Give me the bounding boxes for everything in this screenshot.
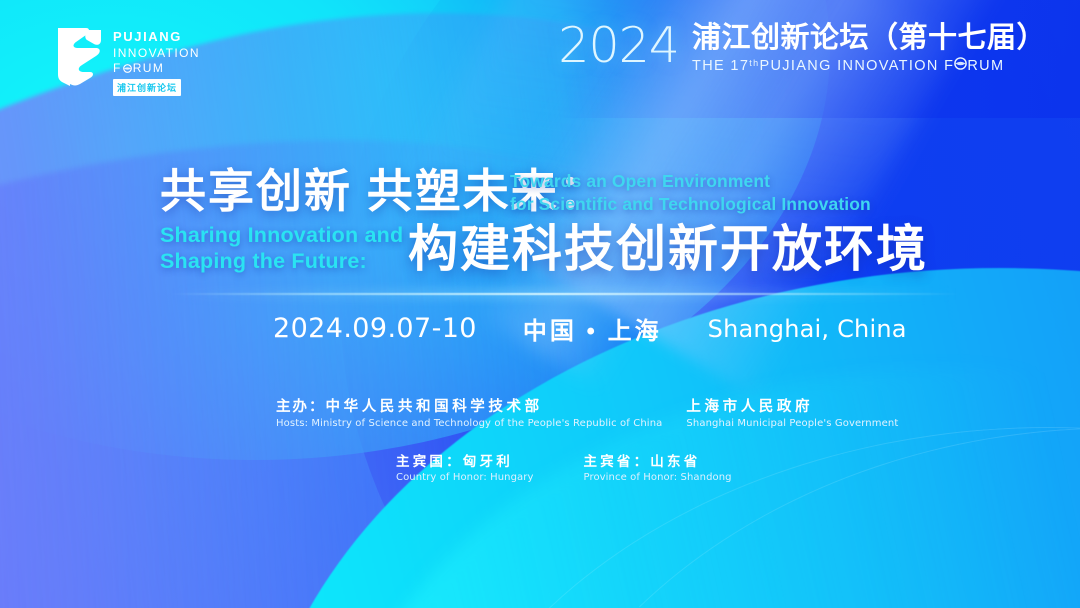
- poster-canvas: PUJIANG INNOVATION F RUM 浦江创新论坛 2024 浦江创…: [0, 0, 1080, 608]
- headline-cn-line-2: 构建科技创新开放环境: [408, 224, 928, 274]
- guest-item: 主宾国：匈牙利 Country of Honor: Hungary: [396, 450, 534, 483]
- guest-cn: 主宾国：匈牙利: [396, 450, 534, 470]
- host-en: Shanghai Municipal People's Government: [686, 418, 898, 429]
- headline-en-right-l2: for Scientific and Technological Innovat…: [510, 193, 871, 216]
- logo-forum-f: F: [113, 61, 122, 76]
- headline-en-left-l1: Sharing Innovation and: [160, 222, 403, 248]
- guest-en: Province of Honor: Shandong: [584, 472, 732, 483]
- host-cn-label: 主办：: [276, 399, 326, 415]
- event-location-en: Shanghai, China: [708, 315, 907, 343]
- headline-en-left: Sharing Innovation and Shaping the Futur…: [160, 222, 403, 274]
- host-cn: 主办：中华人民共和国科学技术部: [276, 398, 662, 416]
- pujiang-logo-mark-icon: [56, 26, 103, 88]
- headline-en-right-l1: Towards an Open Environment: [510, 170, 871, 193]
- event-date: 2024.09.07-10: [273, 313, 477, 344]
- logo-chinese-badge: 浦江创新论坛: [113, 79, 181, 96]
- forum-title-en-pre: THE 17: [692, 58, 749, 74]
- forum-year: 2024: [558, 22, 679, 70]
- host-item: 主办：中华人民共和国科学技术部 Hosts: Ministry of Scien…: [276, 398, 662, 429]
- forum-title-en: THE 17 th PUJIANG INNOVATION F RUM: [692, 57, 1046, 74]
- pujiang-forum-logo[interactable]: PUJIANG INNOVATION F RUM 浦江创新论坛: [56, 26, 200, 96]
- forum-title-text: 浦江创新论坛（第十七届） THE 17 th PUJIANG INNOVATIO…: [692, 22, 1046, 74]
- guests-of-honor-row: 主宾国：匈牙利 Country of Honor: Hungary 主宾省：山东…: [396, 450, 732, 483]
- globe-o-icon-header: [954, 57, 967, 70]
- host-item: 上海市人民政府 Shanghai Municipal People's Gove…: [686, 398, 898, 429]
- logo-wordmark: PUJIANG INNOVATION F RUM 浦江创新论坛: [113, 26, 200, 96]
- hosts-row: 主办：中华人民共和国科学技术部 Hosts: Ministry of Scien…: [276, 398, 898, 429]
- forum-title-en-end: RUM: [967, 58, 1004, 74]
- guest-cn: 主宾省：山东省: [584, 450, 732, 470]
- forum-title-cn: 浦江创新论坛（第十七届）: [692, 23, 1046, 54]
- guest-item: 主宾省：山东省 Province of Honor: Shandong: [584, 450, 732, 483]
- forum-title-block: 2024 浦江创新论坛（第十七届） THE 17 th PUJIANG INNO…: [558, 22, 1046, 74]
- forum-title-en-sup: th: [749, 58, 759, 68]
- logo-line-innovation: INNOVATION: [113, 46, 200, 61]
- headline-en-left-l2: Shaping the Future:: [160, 248, 403, 274]
- globe-o-icon: [123, 64, 132, 73]
- host-cn: 上海市人民政府: [686, 398, 898, 416]
- headline-en-right: Towards an Open Environment for Scientif…: [510, 170, 871, 216]
- event-info-row: 2024.09.07-10 中国 • 上海 Shanghai, China: [273, 311, 907, 346]
- host-cn-value: 中华人民共和国科学技术部: [326, 399, 543, 415]
- guest-en: Country of Honor: Hungary: [396, 472, 534, 483]
- logo-line-forum: F RUM: [113, 61, 200, 76]
- event-location-cn: 中国 • 上海: [523, 311, 662, 346]
- logo-line-pujiang: PUJIANG: [113, 29, 200, 46]
- logo-forum-rest: RUM: [133, 61, 165, 76]
- host-en: Hosts: Ministry of Science and Technolog…: [276, 418, 662, 429]
- forum-title-en-post: PUJIANG INNOVATION F: [759, 58, 954, 74]
